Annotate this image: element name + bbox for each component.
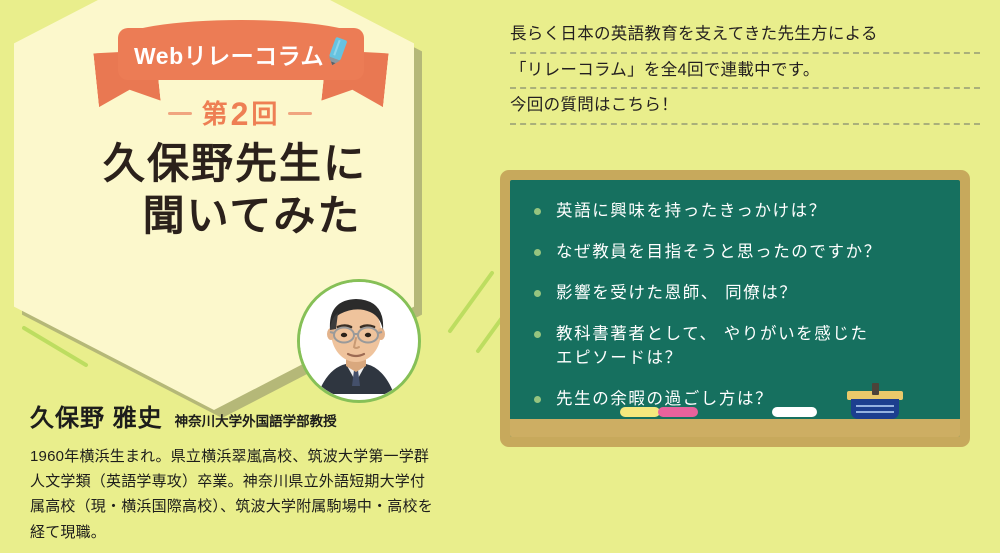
- left-panel: Webリレーコラム 第2回: [0, 0, 480, 553]
- intro-line: 今回の質問はこちら！: [510, 97, 980, 125]
- list-item: なぜ教員を目指そうと思ったのですか？: [534, 241, 946, 265]
- episode-dash-left: [168, 112, 192, 115]
- chalk-tray: [510, 419, 960, 437]
- list-item: 教科書著者として、 やりがいを感じた エピソードは？: [534, 323, 946, 371]
- episode-suffix: 回: [251, 99, 278, 129]
- list-item: 影響を受けた恩師、 同僚は？: [534, 282, 946, 306]
- avatar: [297, 279, 421, 403]
- page-title-line1: 久保野先生に: [0, 138, 470, 190]
- profile-bio: 1960年横浜生まれ。県立横浜翠嵐高校、筑波大学第一学群人文学類（英語学専攻）卒…: [30, 444, 435, 545]
- episode-text: 第2回: [202, 94, 279, 133]
- ribbon-label: Webリレーコラム: [134, 37, 324, 71]
- blackboard-surface: 英語に興味を持ったきっかけは？ なぜ教員を目指そうと思ったのですか？ 影響を受け…: [510, 180, 960, 437]
- chalk-yellow-icon: [620, 407, 660, 417]
- profile-name: 久保野 雅史: [30, 398, 163, 433]
- blackboard: 英語に興味を持ったきっかけは？ なぜ教員を目指そうと思ったのですか？ 影響を受け…: [500, 170, 970, 447]
- chalk-pink-icon: [658, 407, 698, 417]
- ribbon-body: Webリレーコラム: [118, 28, 364, 80]
- chalk-white-icon: [772, 407, 817, 417]
- intro-text-block: 長らく日本の英語教育を支えてきた先生方による 「リレーコラム」を全4回で連載中で…: [510, 26, 980, 133]
- list-item: 英語に興味を持ったきっかけは？: [534, 200, 946, 224]
- eraser-stripe: [856, 405, 894, 407]
- poster-root: Webリレーコラム 第2回: [0, 0, 1000, 553]
- episode-prefix: 第: [202, 99, 229, 129]
- page-title: 久保野先生に 聞いてみた: [0, 138, 470, 242]
- episode-dash-right: [288, 112, 312, 115]
- profile-name-row: 久保野 雅史 神奈川大学外国語学部教授: [30, 398, 450, 433]
- right-panel: 長らく日本の英語教育を支えてきた先生方による 「リレーコラム」を全4回で連載中で…: [498, 0, 1000, 553]
- intro-line: 「リレーコラム」を全4回で連載中です。: [510, 62, 980, 90]
- episode-number: 2: [229, 96, 252, 132]
- intro-line: 長らく日本の英語教育を支えてきた先生方による: [510, 26, 980, 54]
- avatar-portrait: [300, 282, 412, 394]
- page-title-line2: 聞いてみた: [0, 190, 470, 242]
- blackboard-eraser-icon: [847, 383, 903, 419]
- pencil-icon: [326, 37, 348, 72]
- profile-block: 久保野 雅史 神奈川大学外国語学部教授 1960年横浜生まれ。県立横浜翠嵐高校、…: [30, 398, 450, 545]
- eraser-body: [851, 399, 899, 419]
- eraser-stripe: [856, 411, 894, 413]
- profile-affiliation: 神奈川大学外国語学部教授: [175, 410, 337, 430]
- episode-marker: 第2回: [0, 94, 480, 133]
- eraser-handle: [872, 383, 879, 395]
